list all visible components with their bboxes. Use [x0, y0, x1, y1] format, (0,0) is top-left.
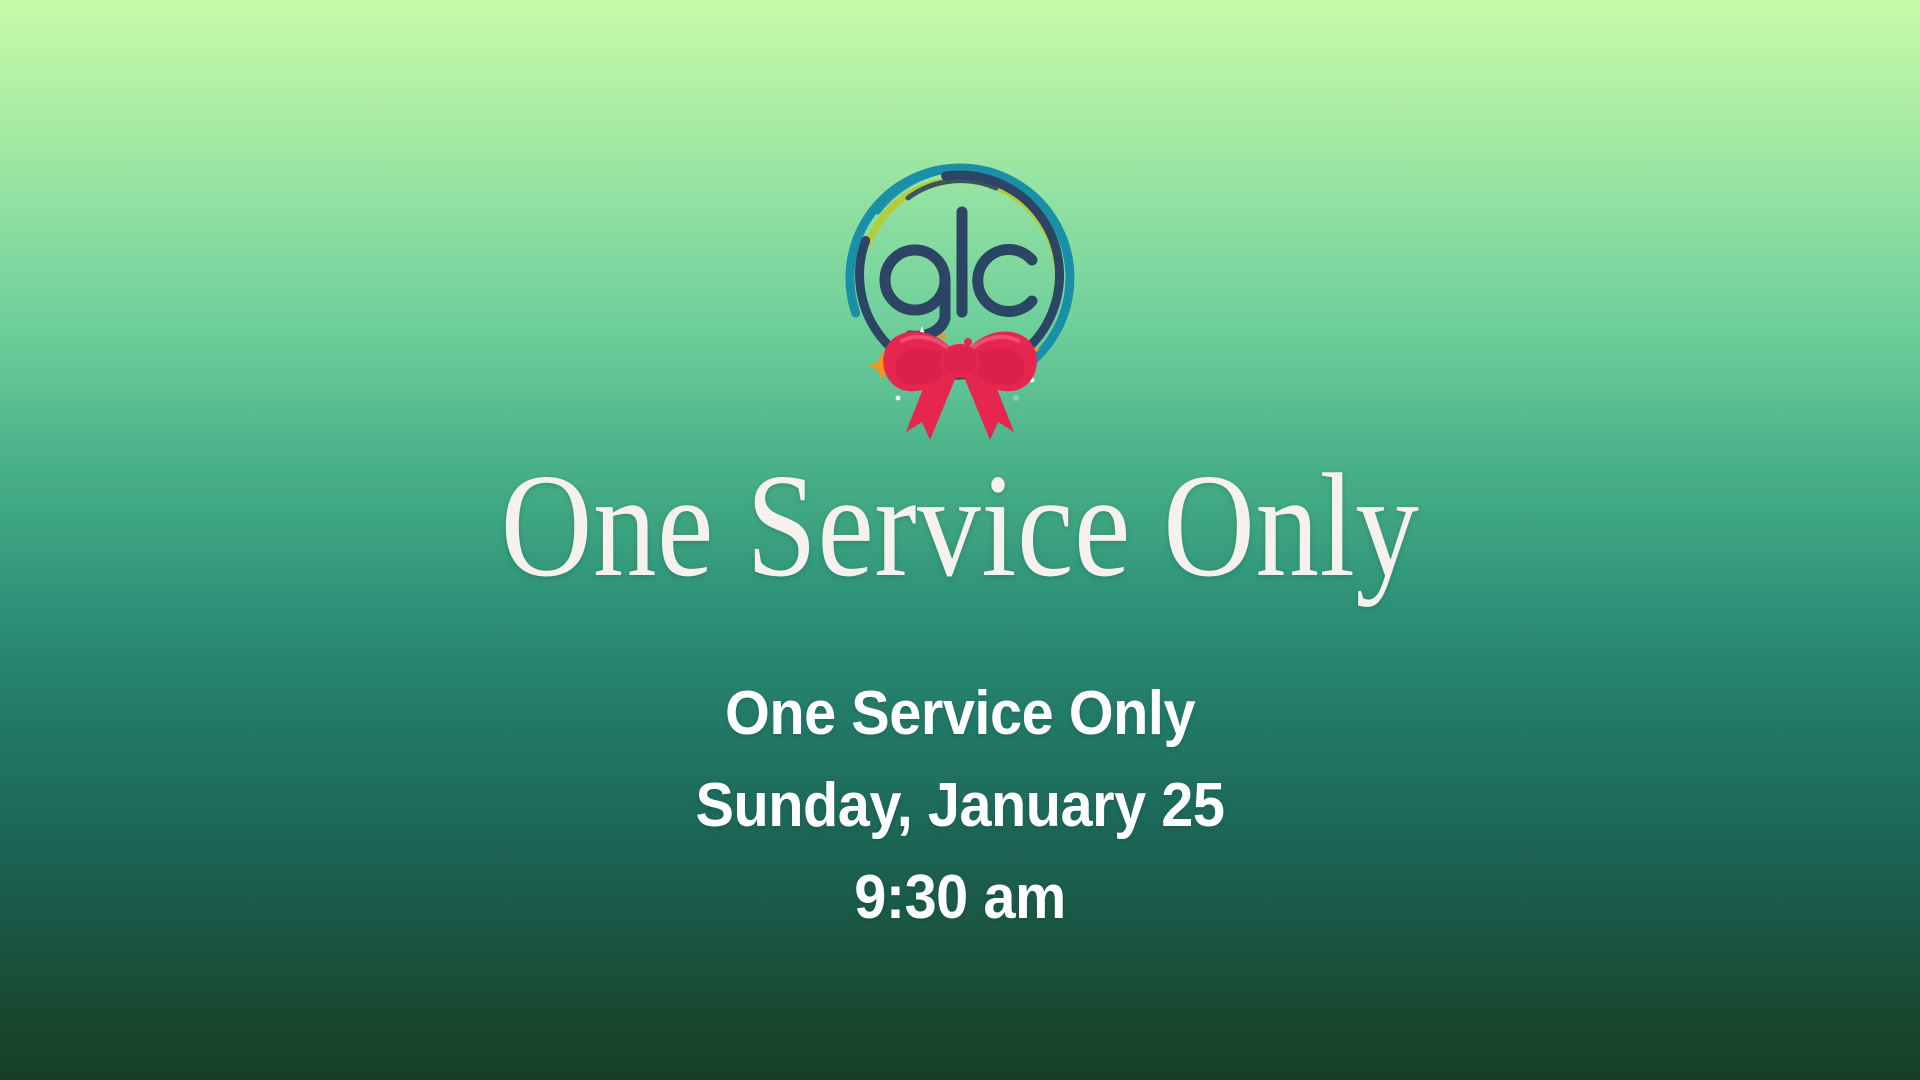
page-title: One Service Only [134, 452, 1785, 600]
red-ribbon-bow-icon [883, 331, 1037, 440]
glc-logo-svg [810, 140, 1110, 450]
announcement-slide: One Service Only One Service Only Sunday… [0, 0, 1920, 1080]
detail-line-time: 9:30 am [67, 856, 1853, 940]
detail-line-date: Sunday, January 25 [67, 764, 1853, 848]
glc-wreath-logo [810, 140, 1110, 450]
event-details: One Service Only Sunday, January 25 9:30… [0, 672, 1920, 940]
glc-wordmark-icon [885, 212, 1032, 336]
detail-line-event-name: One Service Only [67, 672, 1853, 756]
